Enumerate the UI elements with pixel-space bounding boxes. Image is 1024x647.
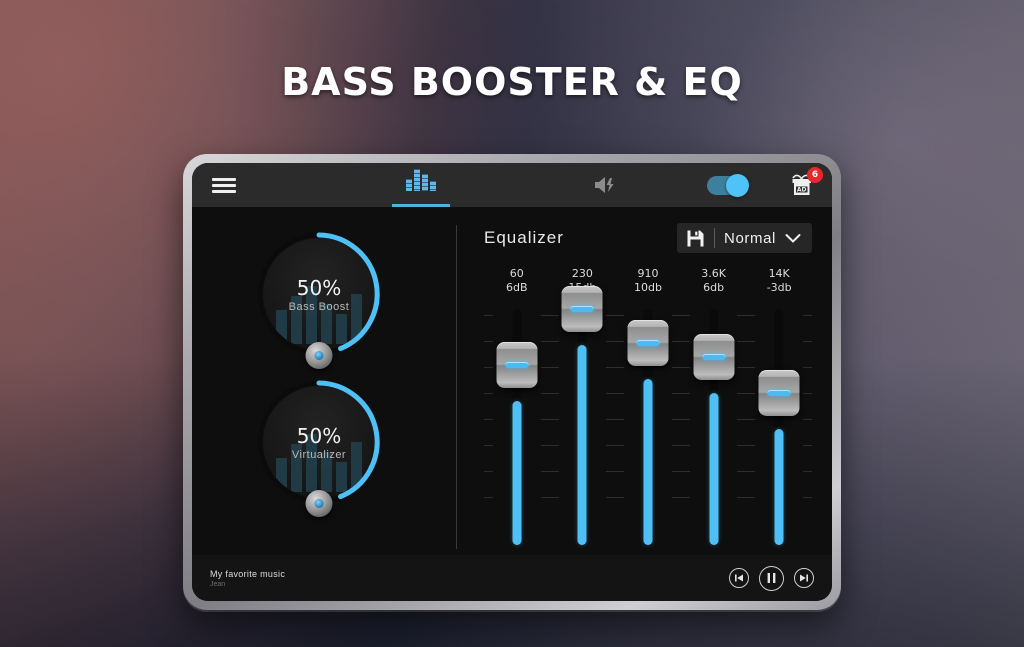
app-top-bar: AD 6 xyxy=(192,163,832,207)
transport-controls xyxy=(729,566,814,591)
volume-boost-button[interactable] xyxy=(582,163,630,207)
slider-thumb[interactable] xyxy=(759,370,800,416)
band-label: 3.6K 6db xyxy=(681,267,747,294)
knob-bass-boost[interactable]: 50% Bass Boost xyxy=(254,229,384,359)
next-button[interactable] xyxy=(794,568,814,588)
track-info: My favorite music Jean xyxy=(210,569,729,588)
band-slider-910[interactable] xyxy=(615,305,681,549)
track-artist: Jean xyxy=(210,581,729,588)
slider-fill xyxy=(643,379,652,545)
slider-thumb[interactable] xyxy=(562,286,603,332)
band-slider-14k[interactable] xyxy=(746,305,812,549)
band-frequency: 3.6K xyxy=(681,267,747,280)
band-label: 60 6dB xyxy=(484,267,550,294)
floppy-save-icon[interactable] xyxy=(686,229,705,248)
app-content: 50% Bass Boost xyxy=(192,207,832,555)
slider-fill xyxy=(775,429,784,545)
equalizer-title: Equalizer xyxy=(484,228,564,248)
slider-fill xyxy=(709,393,718,545)
band-frequency: 60 xyxy=(484,267,550,280)
frequency-labels-row: 60 6dB 230 15db 910 10db 3.6K 6db xyxy=(484,267,812,294)
preset-selector[interactable]: Normal xyxy=(677,223,812,253)
band-frequency: 14K xyxy=(746,267,812,280)
preset-divider xyxy=(714,228,715,248)
svg-text:AD: AD xyxy=(797,187,807,194)
gift-ad-button[interactable]: AD 6 xyxy=(788,172,818,202)
knob-value: 50% xyxy=(297,276,341,300)
previous-button[interactable] xyxy=(729,568,749,588)
tablet-device-frame: AD 6 xyxy=(183,154,841,610)
band-slider-230[interactable] xyxy=(550,305,616,549)
menu-button[interactable] xyxy=(192,163,256,207)
slider-fill xyxy=(578,345,587,545)
hamburger-menu-icon xyxy=(212,175,236,196)
skip-next-icon xyxy=(799,573,809,583)
equalizer-sliders xyxy=(484,305,812,549)
pause-button[interactable] xyxy=(759,566,784,591)
band-frequency: 230 xyxy=(550,267,616,280)
player-bar: My favorite music Jean xyxy=(192,555,832,601)
knob-handle[interactable] xyxy=(306,490,333,517)
pause-icon xyxy=(766,572,777,584)
slider-fill xyxy=(512,401,521,545)
band-label: 14K -3db xyxy=(746,267,812,294)
power-toggle[interactable] xyxy=(707,176,747,195)
equalizer-panel: Equalizer Normal xyxy=(456,207,832,555)
equalizer-header: Equalizer Normal xyxy=(484,223,812,253)
knob-handle[interactable] xyxy=(306,342,333,369)
track-title: My favorite music xyxy=(210,569,729,579)
skip-previous-icon xyxy=(734,573,744,583)
slider-thumb[interactable] xyxy=(627,320,668,366)
knobs-panel: 50% Bass Boost xyxy=(192,207,456,555)
band-gain: 6dB xyxy=(484,281,550,294)
speaker-boost-icon xyxy=(593,175,619,195)
gift-badge-count: 6 xyxy=(807,167,823,183)
band-gain: 10db xyxy=(615,281,681,294)
slider-thumb[interactable] xyxy=(496,342,537,388)
page-title: BASS BOOSTER & EQ xyxy=(0,60,1024,104)
tab-equalizer[interactable] xyxy=(392,163,450,207)
band-frequency: 910 xyxy=(615,267,681,280)
knob-label: Virtualizer xyxy=(292,449,346,461)
slider-thumb[interactable] xyxy=(693,334,734,380)
band-slider-3-6k[interactable] xyxy=(681,305,747,549)
tablet-screen: AD 6 xyxy=(192,163,832,601)
knob-value: 50% xyxy=(297,424,341,448)
preset-name: Normal xyxy=(724,230,776,247)
band-label: 910 10db xyxy=(615,267,681,294)
knob-label: Bass Boost xyxy=(289,301,350,313)
knob-readout: 50% Virtualizer xyxy=(254,377,384,507)
band-slider-60[interactable] xyxy=(484,305,550,549)
knob-virtualizer[interactable]: 50% Virtualizer xyxy=(254,377,384,507)
equalizer-bars-icon xyxy=(406,169,436,191)
chevron-down-icon[interactable] xyxy=(785,233,801,244)
band-gain: -3db xyxy=(746,281,812,294)
band-gain: 6db xyxy=(681,281,747,294)
knob-readout: 50% Bass Boost xyxy=(254,229,384,359)
